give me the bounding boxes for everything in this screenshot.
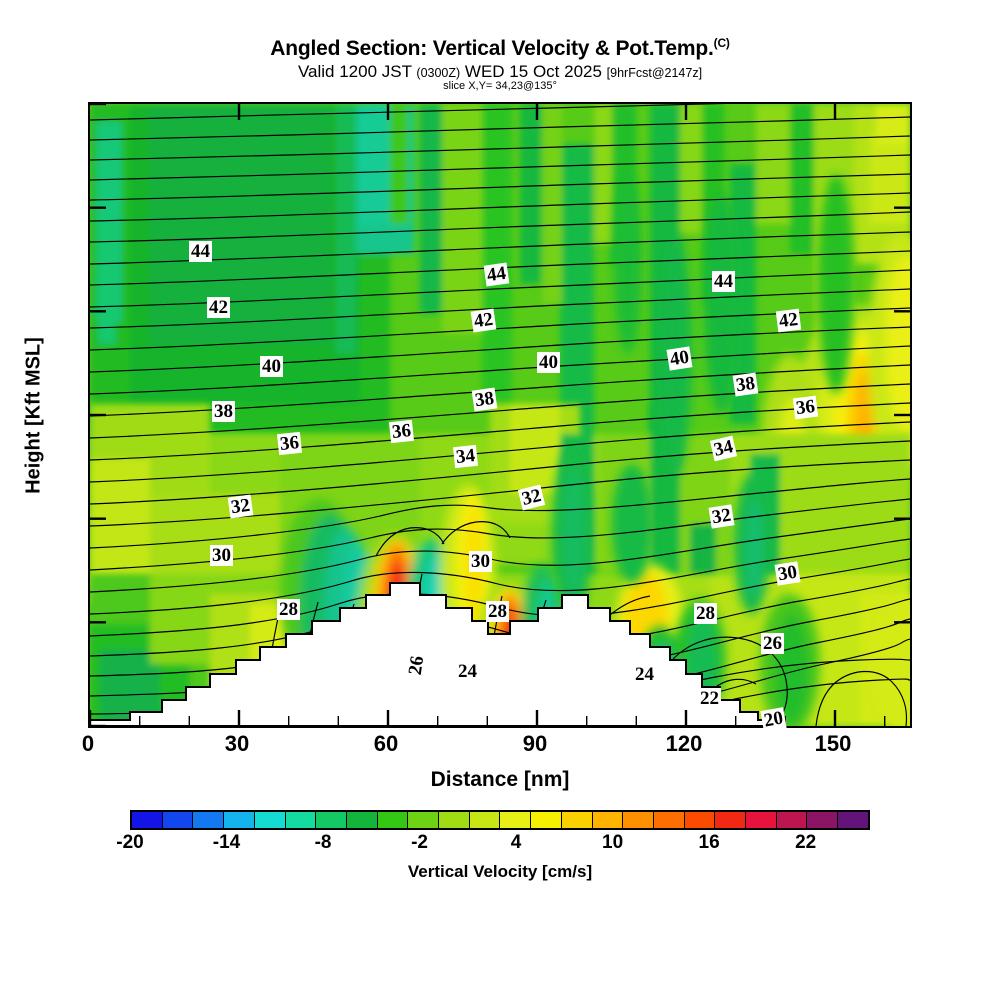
forecast-stamp: [9hrFcst@2147z]: [607, 66, 702, 80]
x-axis-label: Distance [nm]: [0, 768, 1000, 792]
isentrope-label: 38: [472, 388, 498, 412]
isentrope-label: 36: [793, 396, 818, 420]
colorbar-swatch: [224, 812, 255, 828]
isentrope-label: 40: [666, 346, 692, 370]
colorbar-tick-label: -2: [380, 832, 460, 854]
valid-utc: (0300Z): [416, 66, 460, 80]
colorbar-swatch: [316, 812, 347, 828]
colorbar-tick-label: 16: [669, 832, 749, 854]
isentrope-label: 40: [260, 356, 283, 377]
isentrope-label: 28: [277, 599, 300, 620]
valid-time: Valid 1200 JST: [298, 62, 412, 81]
isentrope-label: 20: [760, 707, 786, 732]
x-axis-tick-label: 60: [346, 731, 426, 757]
x-axis-tick-label: 120: [644, 731, 724, 757]
isentrope-label: 42: [207, 297, 230, 318]
colorbar-tick-label: 10: [573, 832, 653, 854]
colorbar-swatch: [132, 812, 163, 828]
chart-subtitle: Valid 1200 JST (0300Z) WED 15 Oct 2025 […: [0, 62, 1000, 82]
isentrope-label: 28: [486, 601, 509, 622]
isentrope-label: 30: [774, 561, 800, 585]
x-axis-tick-label: 0: [48, 731, 128, 757]
isentrope-label: 24: [456, 661, 479, 682]
colorbar-swatch: [807, 812, 838, 828]
isentrope-label: 40: [537, 352, 560, 373]
colorbar-swatch: [439, 812, 470, 828]
colorbar-swatch: [593, 812, 624, 828]
title-copyright: (C): [714, 36, 730, 50]
slice-info: slice X,Y= 34,23@135°: [0, 80, 1000, 92]
colorbar-swatch: [838, 812, 868, 828]
colorbar-swatch: [470, 812, 501, 828]
isentrope-label: 42: [776, 309, 801, 333]
colorbar-swatch: [623, 812, 654, 828]
colorbar-swatch: [746, 812, 777, 828]
colorbar-swatch: [255, 812, 286, 828]
colorbar: [130, 810, 870, 830]
isentrope-label: 32: [228, 495, 254, 519]
isentrope-label: 38: [733, 373, 759, 397]
isentrope-label: 30: [210, 545, 233, 566]
colorbar-swatch: [378, 812, 409, 828]
colorbar-swatch: [408, 812, 439, 828]
colorbar-swatch: [286, 812, 317, 828]
colorbar-label: Vertical Velocity [cm/s]: [0, 862, 1000, 882]
isentrope-label: 28: [694, 603, 717, 624]
colorbar-swatch: [531, 812, 562, 828]
colorbar-tick-label: -14: [187, 832, 267, 854]
cross-section-plot: 4442403836323028363438444232403028262444…: [88, 102, 912, 728]
title-main-text: Angled Section: Vertical Velocity & Pot.…: [270, 37, 713, 60]
colorbar-tick-label: 4: [476, 832, 556, 854]
colorbar-swatch: [347, 812, 378, 828]
colorbar-swatch: [193, 812, 224, 828]
colorbar-swatch: [562, 812, 593, 828]
isentrope-label: 26: [405, 653, 429, 679]
colorbar-swatch: [685, 812, 716, 828]
colorbar-tick-label: -20: [90, 832, 170, 854]
colorbar-swatch: [654, 812, 685, 828]
chart-page: Angled Section: Vertical Velocity & Pot.…: [0, 0, 1000, 1000]
colorbar-swatch: [163, 812, 194, 828]
page-title: Angled Section: Vertical Velocity & Pot.…: [0, 36, 1000, 61]
isentrope-label: 44: [484, 263, 510, 287]
x-axis-tick-label: 30: [197, 731, 277, 757]
isentrope-label: 22: [698, 688, 721, 709]
isentrope-label: 42: [471, 309, 497, 333]
isentrope-label: 44: [189, 241, 212, 262]
colorbar-tick-label: 22: [766, 832, 846, 854]
isentrope-label: 36: [277, 432, 302, 455]
isentrope-label: 32: [708, 504, 734, 528]
colorbar-swatch: [715, 812, 746, 828]
x-axis-tick-label: 150: [793, 731, 873, 757]
colorbar-tick-label: -8: [283, 832, 363, 854]
isentrope-label: 38: [212, 401, 235, 422]
isentrope-label: 44: [712, 271, 735, 292]
isentrope-label: 24: [633, 664, 656, 685]
colorbar-swatch: [777, 812, 808, 828]
valid-date: WED 15 Oct 2025: [465, 62, 602, 81]
y-axis-label: Height [Kft MSL]: [23, 136, 46, 696]
isentrope-label: 26: [761, 633, 784, 654]
isentrope-label: 34: [453, 445, 478, 468]
isentrope-label: 30: [469, 551, 492, 572]
colorbar-swatch: [500, 812, 531, 828]
x-axis-tick-label: 90: [495, 731, 575, 757]
isentrope-label: 36: [389, 420, 414, 443]
